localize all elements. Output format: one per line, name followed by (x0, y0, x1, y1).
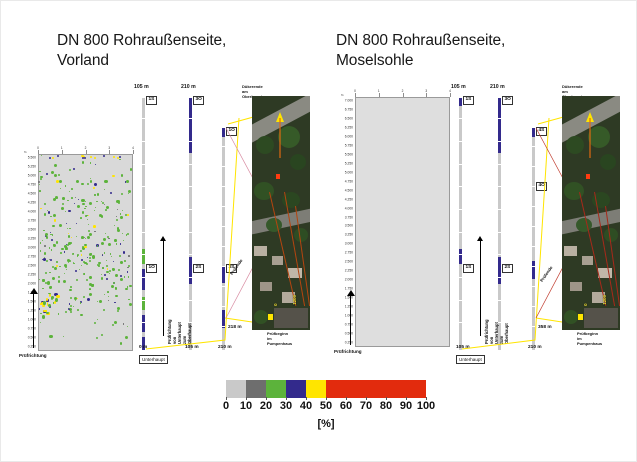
scatter-point (44, 252, 47, 255)
scatter-point (61, 248, 64, 251)
scatter-point (104, 180, 107, 183)
strip-notch (458, 300, 463, 301)
strip-segment (142, 249, 145, 264)
panel-left-pruefrichtung-label: Prüfrichtung (19, 353, 47, 358)
legend-tickmark (366, 397, 367, 400)
strip-notch (188, 277, 193, 278)
y-tick-label: 3.000 (28, 246, 36, 249)
strip-notch (141, 141, 146, 142)
scatter-point (47, 281, 50, 284)
strip-notch (458, 277, 463, 278)
y-tick-label: 5.000 (345, 171, 353, 174)
panel-right-start-distance: 105 m (456, 345, 470, 350)
legend-color-bar (226, 380, 426, 398)
scatter-point (107, 268, 109, 270)
strip-notch (497, 300, 502, 301)
panel-right-strip-3 (532, 128, 535, 350)
legend-tickmark (266, 397, 267, 400)
y-tick-label: 0.250 (28, 345, 36, 348)
y-tick-label: 4.750 (345, 180, 353, 183)
x-tickmark (38, 150, 39, 154)
scatter-point (110, 192, 112, 194)
panel-left-strip-3-top-box[interactable]: 1O (226, 127, 237, 136)
legend-band-50-100 (326, 380, 426, 398)
scatter-point (81, 236, 84, 239)
slide-canvas: DN 800 Rohraußenseite, Vorland DN 800 Ro… (0, 0, 637, 462)
scatter-point (101, 242, 104, 245)
y-tick-label: 4.500 (28, 193, 36, 196)
scatter-point (117, 310, 119, 312)
panel-left-strip-3 (222, 128, 225, 350)
y-tick-label: 2.500 (28, 264, 36, 267)
scatter-point (45, 272, 47, 274)
strip-notch (531, 226, 536, 227)
scatter-point (40, 250, 41, 251)
panel-right-strip-3-top-box[interactable]: 4S (536, 127, 547, 136)
panel-left-strip-1 (142, 98, 145, 350)
panel-right-strip-2-bottom-box[interactable]: 2S (502, 264, 513, 273)
y-tick-label: 2.000 (28, 282, 36, 285)
scatter-point (68, 233, 69, 234)
scatter-point (104, 252, 105, 253)
strip-notch (531, 146, 536, 147)
strip-notch (497, 232, 502, 233)
strip-notch (531, 206, 536, 207)
scatter-point (94, 194, 95, 195)
x-tick-label: 1 (61, 146, 63, 150)
scatter-point (114, 321, 117, 324)
panel-left-x-axis: 01234 (38, 150, 133, 155)
scatter-point (92, 255, 95, 258)
y-tick-label: 2.000 (345, 278, 353, 281)
y-tick-label: 0.500 (345, 332, 353, 335)
y-tick-label: 5.500 (345, 153, 353, 156)
y-tick-label: 3.750 (28, 220, 36, 223)
panel-right-pruefrichtung-arrowhead (347, 290, 355, 296)
scatter-point (45, 233, 48, 236)
strip-notch (141, 118, 146, 119)
scatter-point (102, 267, 103, 268)
scatter-point (123, 323, 125, 325)
scatter-point (110, 253, 112, 255)
strip-notch (497, 186, 502, 187)
scatter-point (44, 203, 46, 205)
scatter-point (119, 159, 121, 161)
panel-right-strip-2 (498, 98, 501, 350)
strip-notch (141, 322, 146, 323)
y-tick-label: 3.500 (345, 225, 353, 228)
legend-band-30-40 (286, 380, 306, 398)
strip-notch (531, 326, 536, 327)
panel-left-strip-2-top-box[interactable]: 3O (193, 96, 204, 105)
panel-right-pruefrichtung-arrow (350, 295, 351, 345)
scatter-point (99, 214, 102, 217)
scatter-point (117, 157, 119, 159)
y-tick-label: 4.000 (28, 211, 36, 214)
y-tick-label: 3.750 (345, 216, 353, 219)
legend-tickmark (406, 397, 407, 400)
y-tick-label: 5.000 (28, 175, 36, 178)
scatter-point (127, 214, 129, 216)
legend-tick-60: 60 (340, 400, 352, 412)
strip-notch (497, 277, 502, 278)
scatter-point (68, 235, 71, 238)
legend-tickmark (426, 397, 427, 400)
scatter-point (46, 173, 48, 175)
panel-left-scatter-chart (38, 154, 133, 351)
strip-segment (222, 266, 225, 284)
x-tick-label: 1 (378, 89, 380, 93)
strip-notch (188, 141, 193, 142)
strip-notch (221, 286, 226, 287)
scatter-point (77, 255, 79, 257)
panel-right-unterhaupt-label[interactable]: Unterhaupt (456, 355, 485, 364)
scatter-point (120, 216, 123, 219)
scatter-point (99, 300, 102, 303)
strip-notch (497, 254, 502, 255)
scatter-point (44, 213, 46, 215)
scatter-point (116, 219, 118, 221)
legend-tick-80: 80 (380, 400, 392, 412)
strip-notch (188, 209, 193, 210)
scatter-point (74, 297, 77, 300)
x-tick-label: 3 (425, 89, 427, 93)
scatter-point (94, 157, 96, 159)
panel-right-aerial-photo: DN 800 DN 1200 (562, 96, 620, 328)
strip-notch (221, 186, 226, 187)
panel-right-strip-2-top-box[interactable]: 3O (502, 96, 513, 105)
strip-notch (141, 186, 146, 187)
strip-notch (458, 186, 463, 187)
legend-tick-30: 30 (280, 400, 292, 412)
scatter-point (128, 255, 130, 257)
panel-right-photo-inset (562, 306, 620, 330)
panel-left-pruefrichtung-arrow (33, 293, 34, 348)
panel-right-strip-1-bottom-box[interactable]: 1S (463, 264, 474, 273)
scatter-point (50, 234, 52, 236)
y-tick-label: 1.250 (28, 309, 36, 312)
panel-right-strip-3-end-label: 358 m (538, 325, 552, 330)
scatter-point (127, 271, 129, 273)
scatter-point (83, 261, 85, 263)
panel-left-strip-1-top-box[interactable]: 1S (146, 96, 157, 105)
x-tick-label: 3 (108, 146, 110, 150)
strip-notch (141, 277, 146, 278)
x-tick-label: 2 (402, 89, 404, 93)
legend-unit-label: [%] (317, 418, 334, 430)
y-tick-label: 5.250 (345, 162, 353, 165)
strip-notch (188, 164, 193, 165)
strip-notch (188, 186, 193, 187)
panel-left-aerial-photo: DN 800 DN 1200 (252, 96, 310, 328)
panel-right-strip-1-distance: 105 m (451, 84, 466, 90)
scatter-point (97, 193, 99, 195)
scatter-point (107, 291, 109, 293)
legend-tick-50: 50 (320, 400, 332, 412)
scatter-point (108, 238, 110, 240)
scatter-point (49, 294, 52, 297)
panel-right-pruefbeginn-caption: Prüfbeginn im Pumpenhaus (577, 331, 602, 346)
scatter-point (101, 277, 103, 279)
legend-tickmark (386, 397, 387, 400)
y-tick-label: 1.250 (345, 305, 353, 308)
strip-notch (458, 209, 463, 210)
scatter-point (68, 210, 71, 213)
scatter-point (40, 242, 42, 244)
scatter-point (125, 181, 127, 183)
scatter-point (63, 280, 66, 283)
scatter-point (77, 205, 80, 208)
legend-tick-90: 90 (400, 400, 412, 412)
y-tick-label: 5.750 (345, 144, 353, 147)
legend-tickmark (306, 397, 307, 400)
scatter-point (46, 260, 48, 262)
panel-right-strip-2-distance: 210 m (490, 84, 505, 90)
scatter-point (80, 217, 82, 219)
strip-notch (188, 232, 193, 233)
scatter-point (54, 164, 57, 167)
panel-left-strip-2 (189, 98, 192, 350)
panel-right-strip-3-bottom-box[interactable]: 4O (536, 182, 547, 191)
scatter-point (90, 156, 92, 158)
y-tick-label: 6.500 (345, 118, 353, 121)
scatter-point (58, 174, 60, 176)
scatter-point (116, 216, 117, 217)
scatter-point (81, 183, 84, 186)
strip-notch (458, 232, 463, 233)
scatter-point (51, 249, 53, 251)
legend-band-0-10 (226, 380, 246, 398)
legend-band-40-50 (306, 380, 326, 398)
panel-left-direction-note: Prüfrichtung von Unterhaupt zum Oberhaup… (168, 319, 193, 344)
x-tick-label: 2 (85, 146, 87, 150)
x-tick-label: 0 (37, 146, 39, 150)
panel-right-end-distance: 210 m (528, 345, 542, 350)
scatter-point (104, 294, 105, 295)
strip-segment (189, 98, 192, 153)
scatter-point (63, 336, 64, 337)
x-tickmark (355, 93, 356, 97)
scatter-point (85, 206, 87, 208)
x-tickmark (86, 150, 87, 154)
scatter-point (56, 265, 58, 267)
strip-segment (459, 98, 462, 106)
x-tickmark (133, 150, 134, 154)
scatter-point (48, 211, 50, 213)
scatter-point (64, 264, 67, 267)
scatter-point (54, 219, 56, 221)
strip-notch (188, 118, 193, 119)
scatter-point (89, 276, 92, 279)
scatter-point (114, 302, 115, 303)
strip-notch (531, 306, 536, 307)
scatter-point (130, 168, 133, 171)
strip-notch (141, 164, 146, 165)
scatter-point (98, 265, 100, 267)
strip-notch (531, 166, 536, 167)
scatter-point (82, 161, 85, 164)
scatter-point (62, 197, 65, 200)
strip-notch (221, 146, 226, 147)
scatter-point (50, 216, 52, 218)
y-tick-label: 6.750 (345, 109, 353, 112)
strip-notch (458, 164, 463, 165)
panel-right-direction-note: Prüfrichtung von Unterhaupt zum Oberhaup… (485, 319, 510, 344)
y-tick-label: 5.250 (28, 166, 36, 169)
scatter-point (70, 286, 72, 288)
x-tickmark (62, 150, 63, 154)
scatter-point (85, 215, 87, 217)
scatter-point (123, 251, 125, 253)
y-tick-label: 6.000 (345, 136, 353, 139)
strip-segment (189, 257, 192, 285)
legend-tick-labels: 0102030405060708090100 (226, 400, 426, 416)
y-tick-label: 0.500 (28, 336, 36, 339)
legend-tick-0: 0 (223, 400, 229, 412)
strip-notch (221, 326, 226, 327)
strip-notch (221, 226, 226, 227)
y-tick-label: 0.250 (345, 341, 353, 344)
y-tick-label: 2.750 (345, 252, 353, 255)
y-tick-label: 5.500 (28, 157, 36, 160)
scatter-point (113, 282, 115, 284)
scatter-point (76, 223, 77, 224)
y-tick-label: 4.250 (28, 202, 36, 205)
y-tick-label: 1.000 (28, 318, 36, 321)
scatter-point (121, 193, 123, 195)
strip-segment (459, 249, 462, 264)
scatter-point (71, 188, 73, 190)
panel-left-unterhaupt-label[interactable]: Unterhaupt (139, 355, 168, 364)
y-tick-label: 3.500 (28, 228, 36, 231)
scatter-point (119, 156, 121, 158)
panel-right-title: DN 800 Rohraußenseite, Moselsohle (336, 31, 586, 71)
panel-left-direction-arrow (163, 240, 164, 336)
scatter-point (40, 176, 43, 179)
scatter-point (114, 239, 117, 242)
y-tick-label: 3.250 (28, 237, 36, 240)
y-tick-label: 3.250 (345, 234, 353, 237)
strip-notch (458, 254, 463, 255)
scatter-point (120, 278, 123, 281)
panel-left-strip-1-bottom-box[interactable]: 1O (146, 264, 157, 273)
panel-right-strip-1-top-box[interactable]: 1S (463, 96, 474, 105)
scatter-point (120, 213, 122, 215)
legend-tick-70: 70 (360, 400, 372, 412)
y-tick-label: 2.500 (345, 261, 353, 264)
panel-left-pruefrichtung-arrowhead (30, 288, 38, 294)
scatter-point (111, 285, 114, 288)
strip-notch (531, 246, 536, 247)
legend-tickmark (326, 397, 327, 400)
scatter-point (129, 285, 132, 288)
y-tick-label: 6.250 (345, 127, 353, 130)
legend-tick-20: 20 (260, 400, 272, 412)
scatter-point (117, 229, 120, 232)
scatter-point (70, 311, 72, 313)
strip-notch (497, 164, 502, 165)
y-tick-label: 3.000 (345, 243, 353, 246)
strip-notch (531, 286, 536, 287)
y-tick-label: 2.250 (345, 269, 353, 272)
legend-tickmark (226, 397, 227, 400)
scatter-point (58, 276, 60, 278)
legend-tick-40: 40 (300, 400, 312, 412)
strip-notch (221, 206, 226, 207)
strip-notch (141, 209, 146, 210)
legend-band-10-20 (246, 380, 266, 398)
panel-left-strip-3-end-label: 218 m (228, 325, 242, 330)
panel-right-profile-chart (355, 97, 450, 347)
strip-segment (222, 128, 225, 137)
strip-notch (221, 246, 226, 247)
scatter-point (39, 190, 41, 192)
scatter-point (66, 269, 67, 270)
strip-notch (141, 254, 146, 255)
scatter-point (49, 157, 51, 159)
scatter-point (125, 214, 127, 216)
strip-segment (142, 315, 145, 333)
scatter-point (56, 261, 58, 263)
strip-notch (458, 141, 463, 142)
y-tick-label: 1.000 (345, 314, 353, 317)
strip-notch (497, 141, 502, 142)
panel-right-direction-arrow (480, 240, 481, 336)
y-tick-label: 0.750 (345, 323, 353, 326)
scatter-point (61, 207, 64, 210)
scatter-point (76, 279, 78, 281)
scatter-point (58, 280, 61, 283)
x-tickmark (450, 93, 451, 97)
panel-left-photo-inset (252, 306, 310, 330)
scatter-point (49, 335, 52, 338)
panel-left-strip-2-bottom-box[interactable]: 2S (193, 264, 204, 273)
y-tick-label: 2.250 (28, 273, 36, 276)
panel-right-x-axis: 01234 (355, 93, 450, 98)
panel-left-start-distance: 0 m (139, 345, 147, 350)
x-tickmark (379, 93, 380, 97)
x-tick-label: 4 (132, 146, 134, 150)
legend-tickmark (346, 397, 347, 400)
y-tick-label: 4.250 (345, 198, 353, 201)
panel-left-pruefbeginn-caption: Prüfbeginn im Pumpenhaus (267, 331, 292, 346)
scatter-point (71, 197, 73, 199)
scatter-point (93, 225, 96, 228)
scatter-point (44, 245, 46, 247)
scatter-point (87, 298, 90, 301)
scatter-point (94, 210, 95, 211)
y-tick-label: 2.750 (28, 255, 36, 258)
scatter-point (120, 275, 122, 277)
panel-left-strip-2-distance: 210 m (181, 84, 196, 90)
y-tick-label: 1.500 (28, 300, 36, 303)
x-tick-label: 0 (354, 89, 356, 93)
legend-tickmark (246, 397, 247, 400)
strip-notch (188, 300, 193, 301)
legend-band-20-30 (266, 380, 286, 398)
scatter-point (115, 274, 118, 277)
strip-segment (142, 269, 145, 289)
x-tickmark (403, 93, 404, 97)
strip-notch (221, 166, 226, 167)
y-tick-label: 7.000 (345, 100, 353, 103)
strip-segment (498, 257, 501, 285)
scatter-point (117, 209, 118, 210)
strip-notch (458, 118, 463, 119)
scatter-point (65, 311, 67, 313)
scatter-point (75, 270, 77, 272)
y-tick-label: 0.750 (28, 327, 36, 330)
